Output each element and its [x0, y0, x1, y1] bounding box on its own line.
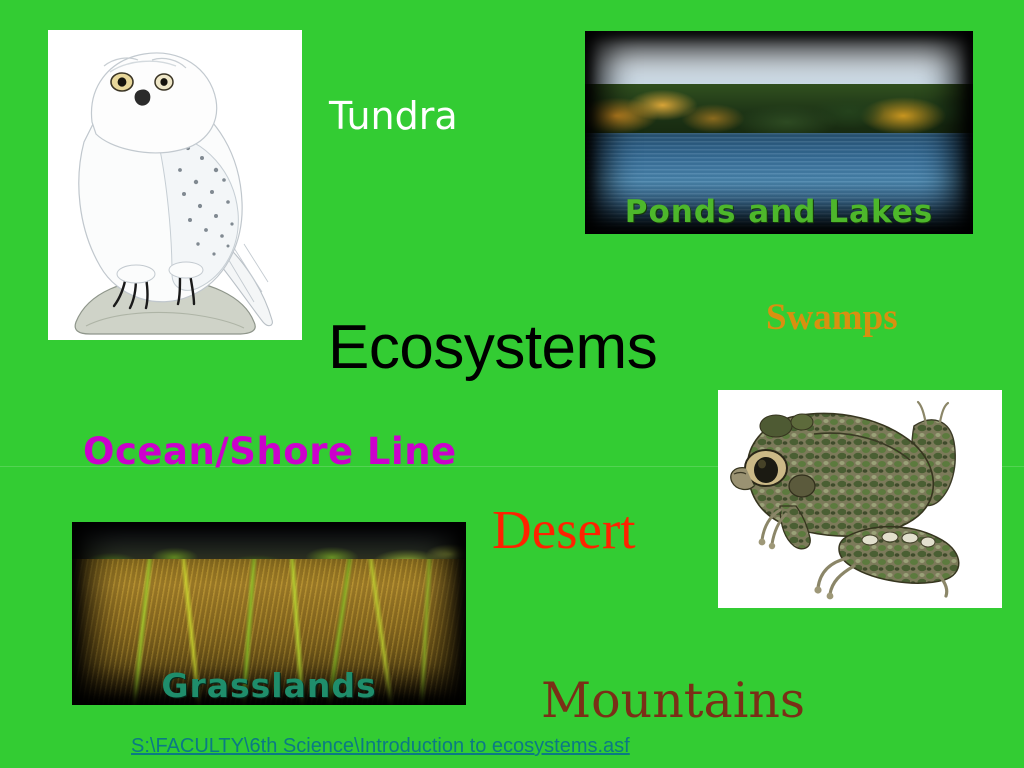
frog-illustration — [718, 390, 1002, 608]
ponds-and-lakes-image[interactable]: Ponds and Lakes — [585, 31, 973, 234]
slide-title: Ecosystems — [328, 312, 657, 383]
snowy-owl-image[interactable] — [48, 30, 302, 340]
presentation-slide: Ponds and Lakes Grasslands — [0, 0, 1024, 768]
grasslands-image[interactable]: Grasslands — [72, 522, 466, 705]
label-desert[interactable]: Desert — [492, 498, 636, 561]
label-mountains[interactable]: Mountains — [541, 672, 805, 729]
label-tundra[interactable]: Tundra — [329, 94, 458, 138]
label-swamps[interactable]: Swamps — [766, 296, 898, 339]
snowy-owl-illustration — [48, 30, 302, 340]
pond-treeline — [585, 84, 973, 137]
frog-image[interactable] — [718, 390, 1002, 608]
ecosystems-video-link[interactable]: S:\FACULTY\6th Science\Introduction to e… — [131, 735, 630, 758]
ponds-and-lakes-caption: Ponds and Lakes — [585, 194, 973, 230]
grasslands-caption: Grasslands — [72, 666, 466, 705]
label-ocean-shore-line[interactable]: Ocean/Shore Line — [83, 430, 457, 473]
